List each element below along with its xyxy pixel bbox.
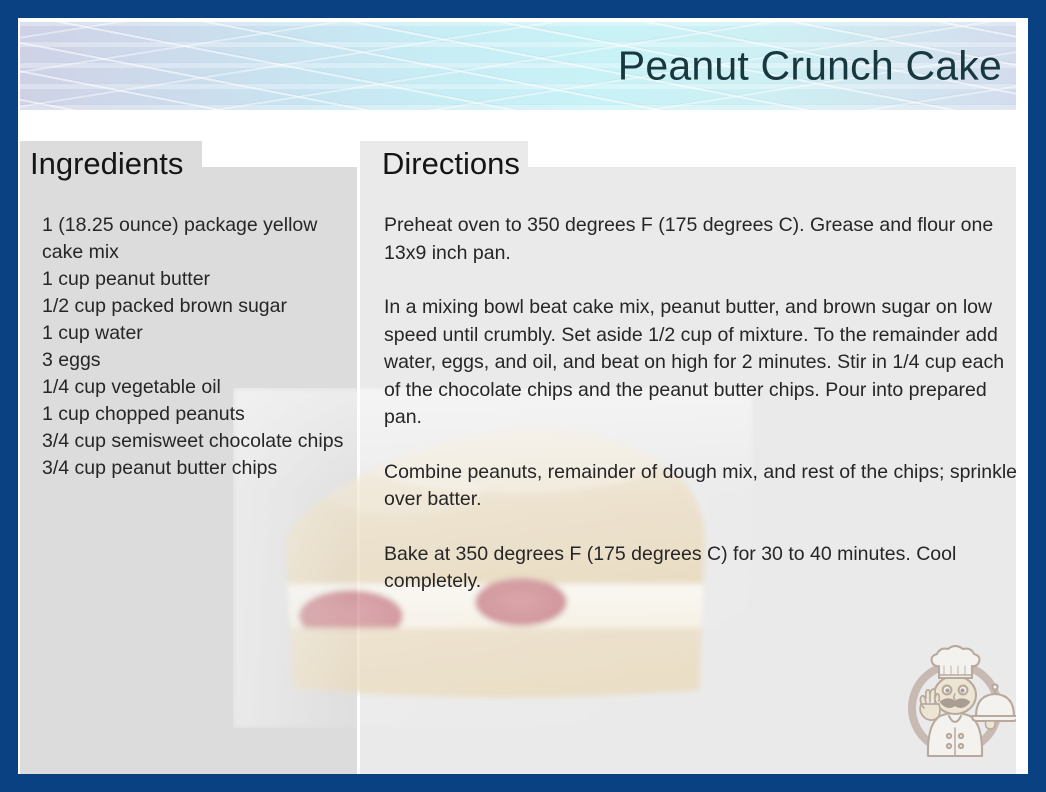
list-item: 3/4 cup peanut butter chips — [42, 455, 352, 482]
list-item: 1 cup chopped peanuts — [42, 401, 352, 428]
list-item: 1 cup peanut butter — [42, 266, 352, 293]
directions-heading-tab: Directions — [360, 141, 528, 187]
direction-step: Preheat oven to 350 degrees F (175 degre… — [384, 212, 1024, 267]
ingredients-heading-tab: Ingredients — [20, 141, 202, 187]
recipe-card: Peanut Crunch Cake — [0, 0, 1046, 792]
direction-step: In a mixing bowl beat cake mix, peanut b… — [384, 294, 1024, 432]
ingredients-heading: Ingredients — [30, 146, 183, 181]
directions-heading: Directions — [382, 146, 520, 181]
list-item: 1 cup water — [42, 320, 352, 347]
list-item: 1/4 cup vegetable oil — [42, 374, 352, 401]
list-item: 1 (18.25 ounce) package yellow cake mix — [42, 212, 352, 266]
list-item: 3/4 cup semisweet chocolate chips — [42, 428, 352, 455]
direction-step: Combine peanuts, remainder of dough mix,… — [384, 459, 1024, 514]
list-item: 1/2 cup packed brown sugar — [42, 293, 352, 320]
page-title: Peanut Crunch Cake — [618, 43, 1002, 90]
title-banner: Peanut Crunch Cake — [20, 22, 1016, 110]
list-item: 3 eggs — [42, 347, 352, 374]
ingredients-list: 1 (18.25 ounce) package yellow cake mix … — [42, 212, 352, 482]
direction-step: Bake at 350 degrees F (175 degrees C) fo… — [384, 541, 1024, 596]
directions-steps: Preheat oven to 350 degrees F (175 degre… — [384, 212, 1024, 596]
